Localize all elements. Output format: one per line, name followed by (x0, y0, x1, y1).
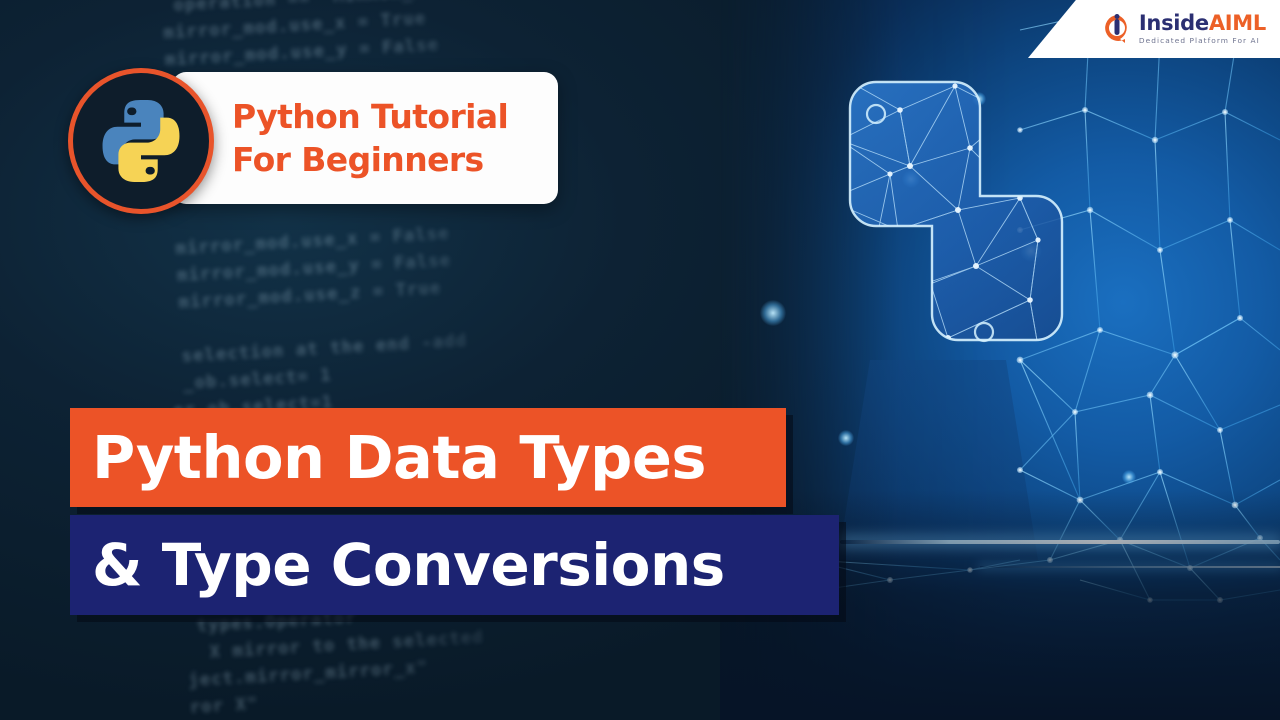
python-logo-badge (68, 68, 214, 214)
video-thumbnail: operation == "MIRROR_X": mirror_mod.use_… (0, 0, 1280, 720)
tutorial-line-2: For Beginners (232, 138, 550, 181)
insideaiml-logo-icon (1102, 13, 1132, 45)
light-spot (1122, 470, 1136, 484)
brand-tagline: Dedicated Platform For AI (1139, 37, 1266, 44)
python-wireframe-logo-icon (780, 70, 1080, 400)
title-primary-text: Python Data Types (92, 423, 706, 492)
brand-name-part1: Inside (1139, 11, 1209, 35)
title-bar-primary: Python Data Types (70, 408, 786, 507)
brand-name: InsideAIML (1139, 13, 1266, 34)
title-secondary-text: & Type Conversions (92, 531, 725, 599)
python-logo-icon (95, 95, 187, 187)
light-spot (838, 430, 854, 446)
brand-logo[interactable]: InsideAIML Dedicated Platform For AI (1102, 13, 1266, 45)
title-bar-secondary: & Type Conversions (70, 515, 839, 615)
tutorial-card-text: Python Tutorial For Beginners (232, 82, 550, 194)
brand-text: InsideAIML Dedicated Platform For AI (1139, 13, 1266, 44)
tutorial-line-1: Python Tutorial (232, 95, 550, 138)
brand-name-part2: AIML (1209, 11, 1266, 35)
